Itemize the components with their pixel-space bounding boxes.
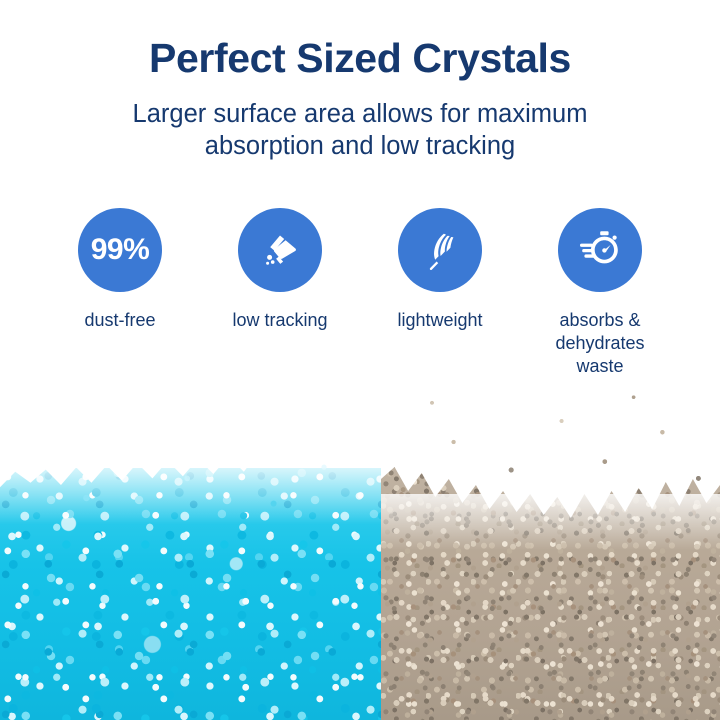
percent-value: 99% [91, 235, 150, 265]
page-title: Perfect Sized Crystals [0, 38, 720, 79]
fast-stopwatch-icon [558, 208, 642, 292]
infographic-page: Perfect Sized Crystals Larger surface ar… [0, 0, 720, 720]
feature-label-absorbs-dehydrates: absorbs & dehydrates waste [555, 309, 644, 378]
feature-low-tracking: low tracking [200, 208, 360, 332]
litter-comparison-photo [0, 386, 720, 720]
feature-badge-row: 99% dust-free low tracking [0, 208, 720, 378]
feature-label-lightweight: lightweight [397, 309, 482, 332]
feature-absorbs-dehydrates: absorbs & dehydrates waste [520, 208, 680, 378]
feature-lightweight: lightweight [360, 208, 520, 332]
broom-sweep-icon [238, 208, 322, 292]
percent-99-badge-icon: 99% [78, 208, 162, 292]
feature-label-dust-free: dust-free [84, 309, 155, 332]
header-block: Perfect Sized Crystals Larger surface ar… [0, 0, 720, 163]
feather-icon [398, 208, 482, 292]
feature-label-low-tracking: low tracking [232, 309, 327, 332]
subtitle-line-2: absorption and low tracking [60, 131, 660, 163]
page-subtitle: Larger surface area allows for maximum a… [0, 99, 720, 163]
subtitle-line-1: Larger surface area allows for maximum [60, 99, 660, 131]
photo-inner [0, 386, 720, 720]
clay-scattered-granules [0, 386, 720, 526]
feature-dust-free: 99% dust-free [40, 208, 200, 332]
